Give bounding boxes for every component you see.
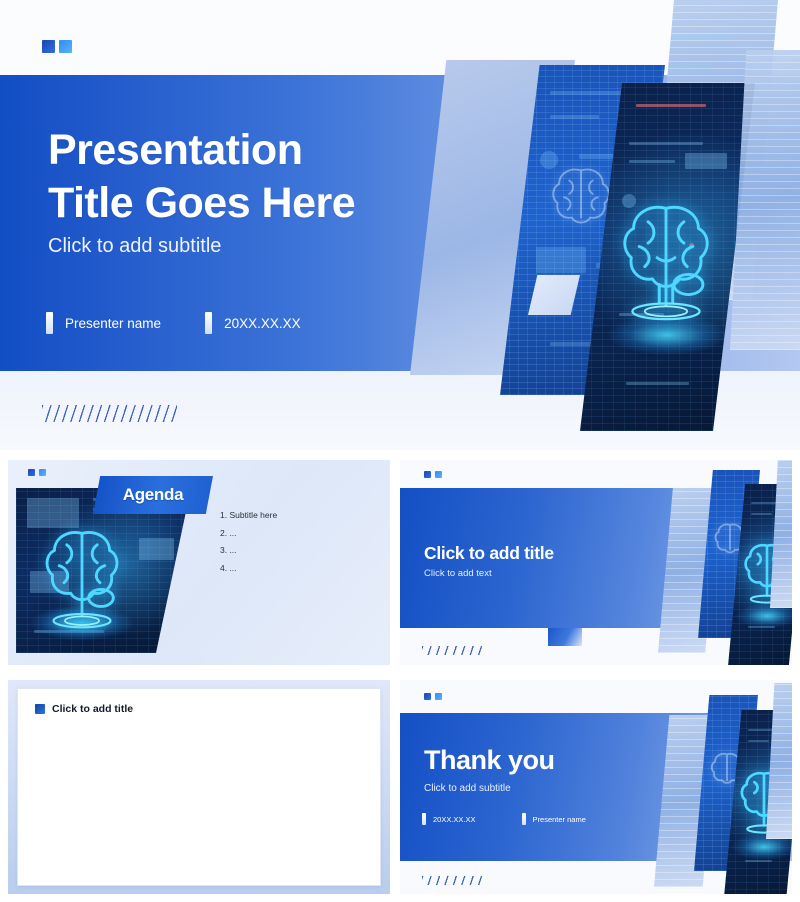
- hero-date-group: 20XX.XX.XX: [205, 312, 301, 334]
- logo-dots: [424, 693, 442, 700]
- thanks-presenter-name[interactable]: Presenter name: [533, 815, 586, 824]
- logo-dots: [424, 471, 442, 478]
- hatch-decoration-icon: [422, 876, 486, 885]
- agenda-banner: Agenda: [93, 476, 213, 514]
- content-body-text[interactable]: Click to add text: [424, 568, 492, 579]
- list-item[interactable]: 2. ...: [220, 528, 277, 539]
- logo-dot-light-icon: [435, 693, 442, 700]
- hero-title: Presentation Title Goes Here: [48, 124, 355, 230]
- logo-dot-light-icon: [39, 469, 46, 476]
- blank-slide-title[interactable]: Click to add title: [52, 703, 133, 715]
- bar-marker-icon: [205, 312, 212, 334]
- agenda-list: 1. Subtitle here 2. ... 3. ... 4. ...: [220, 510, 277, 580]
- hatch-decoration-icon: [42, 405, 177, 422]
- thanks-presenter-group: Presenter name: [522, 813, 586, 825]
- hero-image-collage: [430, 55, 800, 435]
- logo-dot-dark-icon: [424, 471, 431, 478]
- thanks-image-collage: [648, 683, 792, 894]
- hero-presenter-name[interactable]: Presenter name: [65, 316, 161, 331]
- thanks-meta-row: 20XX.XX.XX Presenter name: [422, 813, 586, 825]
- logo-dot-light-icon: [59, 40, 72, 53]
- slide-thank-you[interactable]: Thank you Click to add subtitle 20XX.XX.…: [400, 680, 792, 894]
- slide-agenda[interactable]: Agenda 1. Subtitle here 2. ... 3. ... 4.…: [8, 460, 390, 665]
- hatch-decoration-icon: [422, 646, 486, 655]
- list-item[interactable]: 3. ...: [220, 545, 277, 556]
- content-image-collage: [650, 460, 792, 665]
- thanks-date[interactable]: 20XX.XX.XX: [433, 815, 476, 824]
- hero-meta-row: Presenter name 20XX.XX.XX: [46, 312, 301, 334]
- logo-dot-light-icon: [435, 471, 442, 478]
- logo-dots: [42, 40, 72, 53]
- blank-sheet[interactable]: Click to add title: [17, 688, 381, 886]
- bar-marker-icon: [422, 813, 426, 825]
- list-item[interactable]: 4. ...: [220, 563, 277, 574]
- brain-hologram-icon: [30, 522, 134, 634]
- brain-hologram-icon: [610, 195, 722, 327]
- slide-deck-preview: Presentation Title Goes Here Click to ad…: [0, 0, 800, 902]
- content-title[interactable]: Click to add title: [424, 543, 554, 564]
- bar-marker-icon: [46, 312, 53, 334]
- hero-subtitle[interactable]: Click to add subtitle: [48, 235, 221, 258]
- blank-title-row: Click to add title: [35, 703, 133, 715]
- slide-blank-content[interactable]: Click to add title: [8, 680, 390, 894]
- thanks-subtitle[interactable]: Click to add subtitle: [424, 783, 511, 794]
- logo-dot-dark-icon: [424, 693, 431, 700]
- hero-date[interactable]: 20XX.XX.XX: [224, 316, 301, 331]
- slide-title[interactable]: Presentation Title Goes Here Click to ad…: [0, 0, 800, 450]
- agenda-banner-label: Agenda: [123, 485, 184, 505]
- accent-chip: [548, 628, 582, 646]
- bar-marker-icon: [522, 813, 526, 825]
- logo-dots: [28, 469, 46, 476]
- logo-dot-dark-icon: [42, 40, 55, 53]
- logo-dot-dark-icon: [28, 469, 35, 476]
- hero-presenter-group: Presenter name: [46, 312, 161, 334]
- slide-content[interactable]: Click to add title Click to add text: [400, 460, 792, 665]
- thanks-title: Thank you: [424, 745, 555, 776]
- list-item[interactable]: 1. Subtitle here: [220, 510, 277, 521]
- bullet-square-icon: [35, 704, 45, 714]
- thanks-date-group: 20XX.XX.XX: [422, 813, 476, 825]
- hero-title-line-2: Title Goes Here: [48, 177, 355, 230]
- hero-title-line-1: Presentation: [48, 124, 355, 177]
